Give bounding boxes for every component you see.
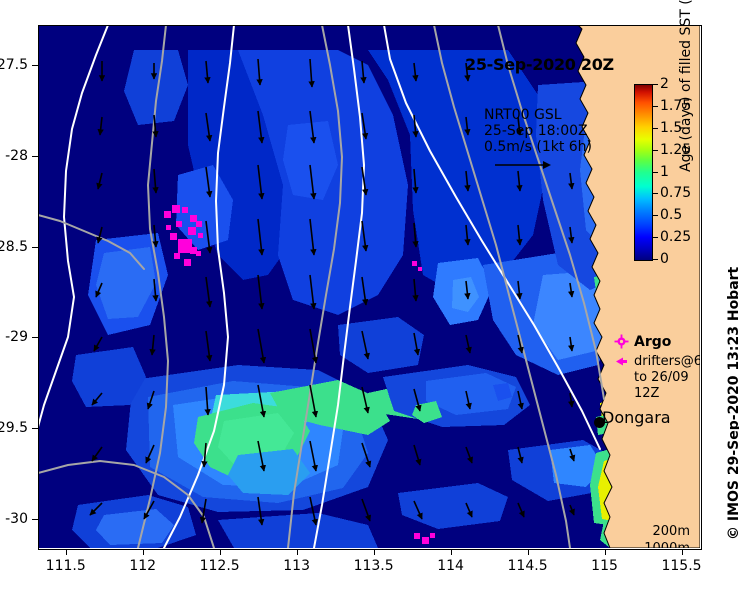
x-axis-label: 112: [129, 558, 156, 574]
colorbar-tick: [653, 259, 658, 260]
x-axis-tick: [682, 549, 683, 555]
x-axis-tick: [605, 549, 606, 555]
x-axis-tick: [528, 549, 529, 555]
x-axis-tick: [451, 549, 452, 555]
depth-key-1000m: 1000m: [608, 540, 690, 548]
legend-drifters-line1: drifters@6h: [634, 354, 700, 369]
argo-float-icon: [608, 334, 634, 354]
colorbar-tick: [653, 128, 658, 129]
depth-key-200m: 200m: [608, 523, 690, 540]
x-axis-tick: [374, 549, 375, 555]
map-plot-area[interactable]: 25-Sep-2020 20Z NRT00 GSL 25-Sep 18:00Z …: [38, 25, 700, 548]
colorbar-tick: [653, 106, 658, 107]
x-axis-label: 115.5: [661, 558, 701, 574]
legend-argo-label: Argo: [634, 334, 671, 350]
y-axis-label: -30: [5, 511, 28, 527]
colorbar-tick-label: 0.75: [660, 185, 691, 201]
y-axis-tick: [32, 519, 38, 520]
drifter-markers: [38, 25, 700, 548]
y-axis-label: -28.5: [0, 239, 28, 255]
y-axis-tick: [32, 65, 38, 66]
legend-drifters-text: drifters@6h to 26/09 12Z: [634, 354, 700, 402]
colorbar-scale: [634, 84, 653, 261]
colorbar-gradient: [635, 85, 652, 260]
colorbar-title: Age (days) of filled SST (wrt latest): [678, 0, 694, 172]
vector-scale-arrow-icon: [493, 158, 553, 172]
colorbar-tick: [653, 193, 658, 194]
map-legend: Argo drifters@6h to 26/09 12Z: [608, 334, 700, 402]
colorbar-tick-label: 0.5: [660, 207, 682, 223]
y-axis-tick: [32, 428, 38, 429]
colorbar-tick-label: 0: [660, 251, 669, 267]
x-axis-label: 115: [591, 558, 618, 574]
y-axis-label: -29: [5, 329, 28, 345]
current-annotation-line1: NRT00 GSL: [484, 107, 592, 123]
current-annotation-line3: 0.5m/s (1kt 6h): [484, 139, 592, 155]
x-axis-tick: [66, 549, 67, 555]
colorbar-tick: [653, 215, 658, 216]
colorbar-tick: [653, 172, 658, 173]
x-axis-tick: [297, 549, 298, 555]
x-axis-label: 114.5: [508, 558, 548, 574]
colorbar-tick: [653, 150, 658, 151]
credit-text: © IMOS 29-Sep-2020 13:23 Hobart: [726, 267, 739, 540]
colorbar-tick: [653, 237, 658, 238]
colorbar-tick-label: 2: [660, 76, 669, 92]
legend-row-drifters: drifters@6h to 26/09 12Z: [608, 354, 700, 402]
y-axis-tick: [32, 156, 38, 157]
dongara-label: Dongara: [602, 408, 671, 427]
map-title: 25-Sep-2020 20Z: [465, 55, 614, 74]
colorbar-tick-label: 1: [660, 164, 669, 180]
x-axis-label: 114: [437, 558, 464, 574]
colorbar-tick-label: 0.25: [660, 229, 691, 245]
y-axis-label: -29.5: [0, 420, 28, 436]
x-axis-label: 111.5: [46, 558, 86, 574]
x-axis-tick: [220, 549, 221, 555]
x-axis-label: 113: [283, 558, 310, 574]
depth-contour-key: 200m 1000m: [608, 523, 690, 548]
y-axis-tick: [32, 337, 38, 338]
y-axis-tick: [32, 247, 38, 248]
x-axis-label: 113.5: [354, 558, 394, 574]
colorbar-tick: [653, 84, 658, 85]
x-axis-label: 112.5: [200, 558, 240, 574]
current-annotation-line2: 25-Sep 18:00Z: [484, 123, 592, 139]
legend-row-argo: Argo: [608, 334, 700, 354]
drifter-track-icon: [608, 354, 634, 374]
current-annotation: NRT00 GSL 25-Sep 18:00Z 0.5m/s (1kt 6h): [484, 107, 592, 155]
x-axis-tick: [143, 549, 144, 555]
y-axis-label: -27.5: [0, 57, 28, 73]
y-axis-label: -28: [5, 148, 28, 164]
legend-drifters-line2: to 26/09 12Z: [634, 370, 689, 401]
